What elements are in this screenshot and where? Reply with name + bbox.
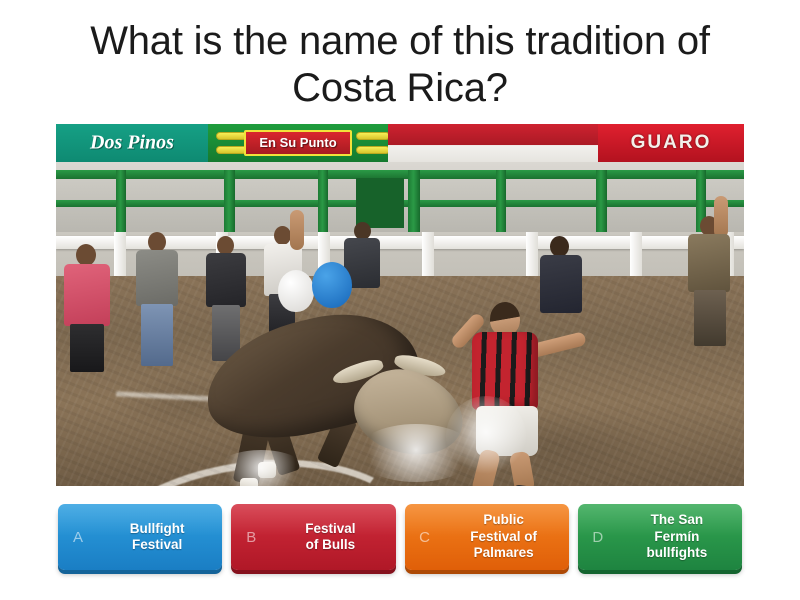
sponsor-banner-guaro: GUARO [598, 124, 744, 162]
green-post [224, 170, 235, 232]
answer-label-d: The San Fermín bullfights [618, 512, 742, 561]
banner-pill-icon [356, 132, 390, 140]
green-post [496, 170, 506, 232]
runner-head [490, 302, 520, 336]
answer-label-c: Public Festival of Palmares [445, 512, 569, 561]
water-splash [446, 396, 526, 476]
balloon-white [278, 270, 314, 312]
spectator [60, 244, 116, 374]
answer-label-b: Festival of Bulls [271, 521, 395, 554]
answer-letter-c: C [405, 529, 445, 546]
answer-letter-a: A [58, 529, 98, 546]
spectator-raised-arm [714, 196, 728, 238]
answer-option-a[interactable]: A Bullfight Festival [58, 504, 222, 570]
green-post [596, 170, 607, 232]
spectator-legs [141, 304, 173, 366]
quiz-slide: What is the name of this tradition of Co… [0, 0, 800, 600]
question-image: Dos Pinos En Su Punto GUARO [56, 124, 744, 486]
answer-letter-d: D [578, 529, 618, 546]
answer-letter-b: B [231, 529, 271, 546]
sponsor-banner-red-white [388, 124, 598, 162]
green-post [318, 170, 328, 232]
spectator [132, 232, 182, 374]
spectator-head [550, 236, 569, 257]
spectator-torso [136, 250, 178, 306]
sponsor-banner-dos-pinos: Dos Pinos [56, 124, 208, 162]
arena-back-wall: Dos Pinos En Su Punto GUARO [56, 124, 744, 170]
page-title: What is the name of this tradition of Co… [50, 18, 750, 112]
answer-options: A Bullfight Festival B Festival of Bulls… [58, 504, 742, 570]
arena-stands [56, 170, 744, 232]
stand-shadow-panel [356, 178, 404, 228]
spectator-torso [688, 234, 730, 292]
sponsor-banner-guaro-text: GUARO [598, 132, 744, 154]
water-splash [216, 450, 306, 486]
spectator-torso [206, 253, 246, 307]
answer-option-c[interactable]: C Public Festival of Palmares [405, 504, 569, 570]
green-post [408, 170, 420, 232]
green-post [116, 170, 126, 232]
spectator-head [76, 244, 96, 266]
sponsor-banner-dos-pinos-text: Dos Pinos [56, 132, 208, 155]
spectator-head [274, 226, 291, 245]
sponsor-banner-en-su-punto: En Su Punto [244, 130, 352, 156]
spectator-torso [64, 264, 110, 326]
spectator-head [148, 232, 166, 252]
spectator-legs [70, 324, 104, 372]
sponsor-banner-en-su-punto-text: En Su Punto [246, 132, 350, 154]
spectator-raised-arm [290, 210, 304, 250]
spectator [684, 202, 736, 352]
spectator-legs [694, 290, 726, 346]
banner-pill-icon [356, 146, 390, 154]
answer-option-b[interactable]: B Festival of Bulls [231, 504, 395, 570]
answer-option-d[interactable]: D The San Fermín bullfights [578, 504, 742, 570]
balloon-blue [312, 262, 352, 308]
bull-running-photo: Dos Pinos En Su Punto GUARO [56, 124, 744, 486]
answer-label-a: Bullfight Festival [98, 521, 222, 554]
